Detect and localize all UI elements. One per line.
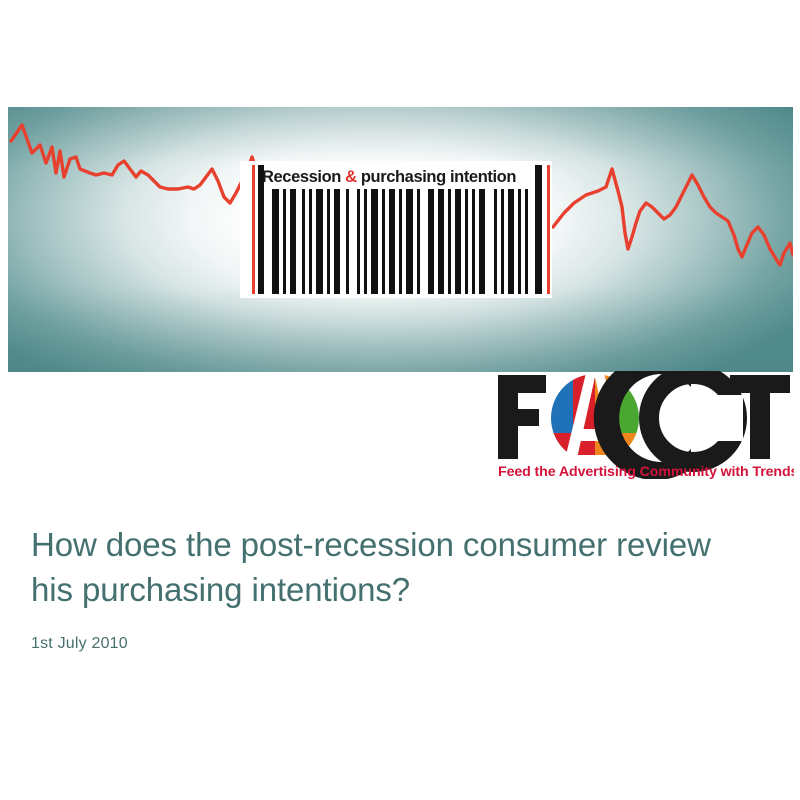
fact-logo: Feed the Advertising Community with Tren…: [492, 371, 794, 479]
barcode-caption: Recession & purchasing intention: [262, 165, 534, 189]
title-block: How does the post-recession consumer rev…: [31, 523, 761, 653]
logo-letter-c: [594, 371, 743, 479]
barcode-graphic: Recession & purchasing intention: [240, 161, 552, 298]
trend-line-left: [11, 125, 258, 207]
barcode-caption-ampersand: &: [345, 168, 357, 186]
logo-tagline: Feed the Advertising Community with Tren…: [498, 464, 794, 479]
page-date: 1st July 2010: [31, 635, 761, 653]
trend-line-right: [553, 169, 793, 265]
page-title: How does the post-recession consumer rev…: [31, 523, 761, 613]
barcode-bars: [254, 189, 536, 294]
barcode-caption-suffix: purchasing intention: [357, 168, 516, 186]
logo-letter-f: [498, 375, 546, 459]
recession-banner: Recession & purchasing intention: [8, 107, 793, 372]
barcode-caption-prefix: Recession: [262, 168, 345, 186]
